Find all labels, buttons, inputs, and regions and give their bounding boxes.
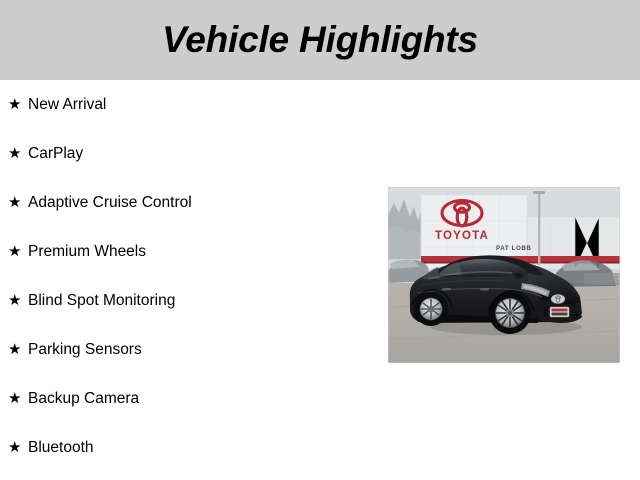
list-item: ★ Backup Camera xyxy=(0,374,390,423)
star-bullet-icon: ★ xyxy=(8,195,28,210)
highlight-label: Adaptive Cruise Control xyxy=(28,195,192,211)
star-bullet-icon: ★ xyxy=(8,146,28,161)
list-item: ★ Bluetooth xyxy=(0,423,390,472)
toyota-wordmark: TOYOTA xyxy=(435,230,489,242)
star-bullet-icon: ★ xyxy=(8,391,28,406)
highlight-label: Backup Camera xyxy=(28,391,139,407)
list-item: ★ Blind Spot Monitoring xyxy=(0,276,390,325)
rear-wheel xyxy=(414,292,448,326)
vehicle-photo-illustration: TOYOTA PAT LOBB xyxy=(388,187,620,363)
star-bullet-icon: ★ xyxy=(8,440,28,455)
dealership-name-sign: PAT LOBB xyxy=(496,245,532,252)
vehicle-highlights-card: Vehicle Highlights ★ New Arrival ★ CarPl… xyxy=(0,0,640,480)
list-item: ★ Adaptive Cruise Control xyxy=(0,178,390,227)
star-bullet-icon: ★ xyxy=(8,293,28,308)
highlight-label: Parking Sensors xyxy=(28,342,142,358)
license-plate xyxy=(550,307,569,317)
highlights-list: ★ New Arrival ★ CarPlay ★ Adaptive Cruis… xyxy=(0,80,390,472)
list-item: ★ Premium Wheels xyxy=(0,227,390,276)
highlight-label: New Arrival xyxy=(28,97,106,113)
vehicle-photo: TOYOTA PAT LOBB xyxy=(388,187,620,363)
highlight-label: Bluetooth xyxy=(28,440,94,456)
star-bullet-icon: ★ xyxy=(8,97,28,112)
list-item: ★ CarPlay xyxy=(0,129,390,178)
star-bullet-icon: ★ xyxy=(8,342,28,357)
highlight-label: Blind Spot Monitoring xyxy=(28,293,175,309)
star-bullet-icon: ★ xyxy=(8,244,28,259)
highlight-label: CarPlay xyxy=(28,146,83,162)
list-item: ★ Parking Sensors xyxy=(0,325,390,374)
list-item: ★ New Arrival xyxy=(0,80,390,129)
header-band: Vehicle Highlights xyxy=(0,0,640,80)
highlight-label: Premium Wheels xyxy=(28,244,146,260)
page-title: Vehicle Highlights xyxy=(162,21,478,58)
toyota-emblem-icon xyxy=(551,294,565,303)
